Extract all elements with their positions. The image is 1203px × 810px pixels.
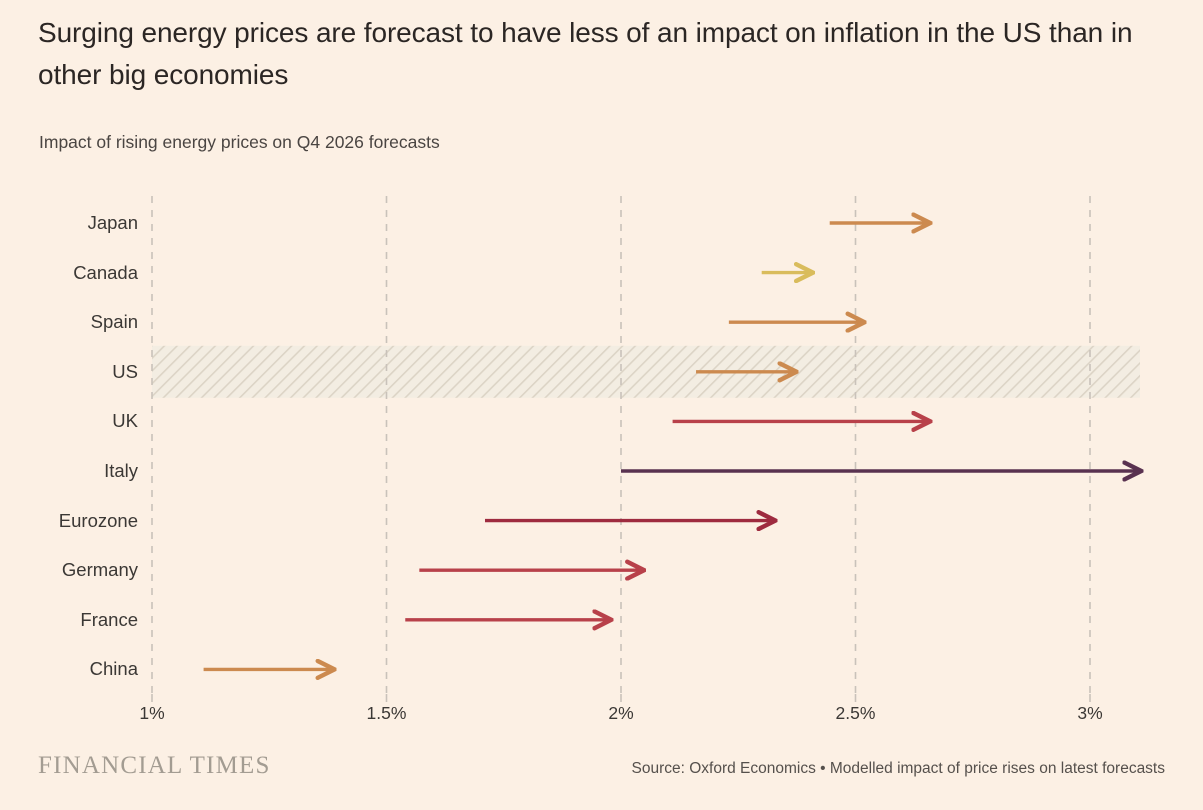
x-axis-label-2.5%: 2.5% — [836, 703, 876, 724]
y-axis-label-germany: Germany — [62, 559, 138, 581]
arrows-group — [204, 223, 1140, 669]
x-axis-label-1.5%: 1.5% — [367, 703, 407, 724]
y-axis-label-france: France — [80, 609, 138, 631]
ft-logo: FINANCIAL TIMES — [38, 752, 271, 780]
chart-plot-area — [0, 0, 1203, 810]
source-note: Source: Oxford Economics • Modelled impa… — [631, 760, 1165, 778]
chart-subtitle: Impact of rising energy prices on Q4 202… — [39, 132, 440, 153]
y-axis-label-us: US — [112, 361, 138, 383]
y-axis-label-spain: Spain — [91, 311, 138, 333]
chart-container: Surging energy prices are forecast to ha… — [0, 0, 1203, 810]
highlight-band-us — [152, 346, 1140, 398]
y-axis-label-japan: Japan — [88, 212, 138, 234]
x-axis-label-2%: 2% — [608, 703, 633, 724]
highlight-band-group — [152, 346, 1140, 398]
chart-title: Surging energy prices are forecast to ha… — [38, 12, 1158, 96]
xtick-marks-group — [152, 694, 1090, 702]
x-axis-label-1%: 1% — [139, 703, 164, 724]
x-axis-label-3%: 3% — [1077, 703, 1102, 724]
y-axis-label-china: China — [90, 658, 138, 680]
gridlines-group — [152, 196, 1090, 694]
y-axis-label-canada: Canada — [73, 262, 138, 284]
y-axis-label-uk: UK — [112, 410, 138, 432]
y-axis-label-italy: Italy — [104, 460, 138, 482]
y-axis-label-eurozone: Eurozone — [59, 510, 138, 532]
